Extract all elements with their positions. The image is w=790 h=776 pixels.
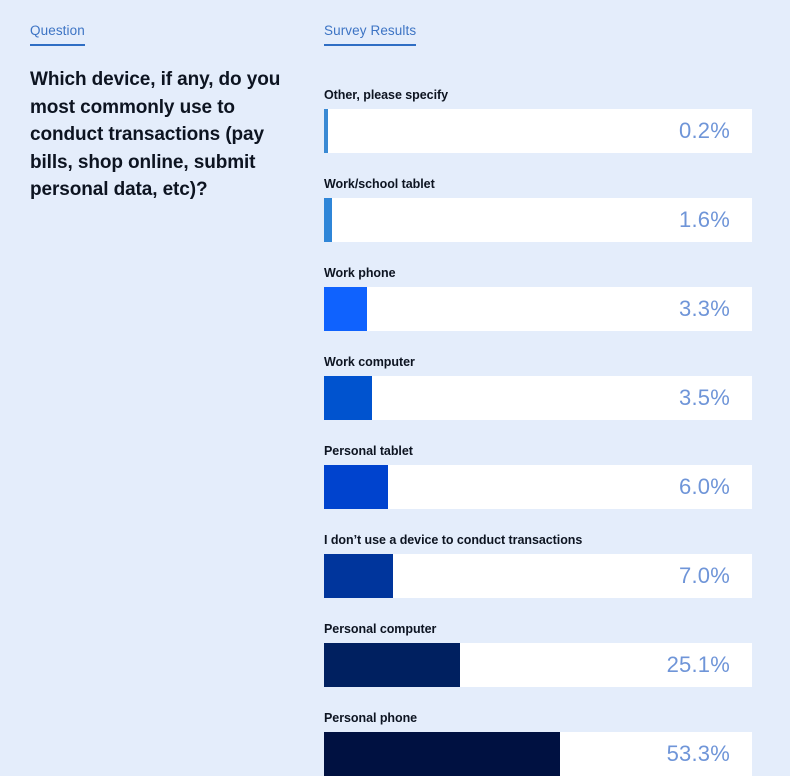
bar-fill <box>324 732 560 776</box>
bar-item: Work computer3.5% <box>324 355 752 420</box>
bar-value: 1.6% <box>679 208 730 232</box>
bar-item: Work/school tablet1.6% <box>324 177 752 242</box>
bar-label: Personal tablet <box>324 444 752 459</box>
bar-item: I don’t use a device to conduct transact… <box>324 533 752 598</box>
bar-track: 3.3% <box>324 287 752 331</box>
bar-item: Personal tablet6.0% <box>324 444 752 509</box>
bar-item: Personal computer25.1% <box>324 622 752 687</box>
bar-track: 25.1% <box>324 643 752 687</box>
survey-result-page: Question Which device, if any, do you mo… <box>0 0 790 682</box>
bar-chart: Other, please specify0.2%Work/school tab… <box>324 88 752 776</box>
bar-track: 6.0% <box>324 465 752 509</box>
bar-fill <box>324 554 393 598</box>
bar-value: 6.0% <box>679 475 730 499</box>
bar-label: Personal computer <box>324 622 752 637</box>
bar-value: 7.0% <box>679 564 730 588</box>
bar-label: Work computer <box>324 355 752 370</box>
bar-label: Personal phone <box>324 711 752 726</box>
bar-fill <box>324 376 372 420</box>
question-section-kicker: Question <box>30 23 85 46</box>
bar-value: 53.3% <box>667 742 730 766</box>
question-panel: Question Which device, if any, do you mo… <box>30 22 302 204</box>
bar-fill <box>324 643 460 687</box>
bar-track: 1.6% <box>324 198 752 242</box>
bar-fill <box>324 465 388 509</box>
bar-fill <box>324 109 328 153</box>
question-text: Which device, if any, do you most common… <box>30 66 302 204</box>
bar-value: 3.3% <box>679 297 730 321</box>
results-section-kicker: Survey Results <box>324 23 416 46</box>
bar-item: Other, please specify0.2% <box>324 88 752 153</box>
bar-value: 3.5% <box>679 386 730 410</box>
bar-label: I don’t use a device to conduct transact… <box>324 533 752 548</box>
bar-label: Work phone <box>324 266 752 281</box>
bar-item: Work phone3.3% <box>324 266 752 331</box>
bar-label: Work/school tablet <box>324 177 752 192</box>
bar-item: Personal phone53.3% <box>324 711 752 776</box>
bar-label: Other, please specify <box>324 88 752 103</box>
bar-fill <box>324 287 367 331</box>
bar-track: 3.5% <box>324 376 752 420</box>
results-panel: Survey Results Other, please specify0.2%… <box>324 22 752 776</box>
bar-track: 53.3% <box>324 732 752 776</box>
results-header: Survey Results <box>324 22 752 66</box>
bar-value: 0.2% <box>679 119 730 143</box>
bar-track: 7.0% <box>324 554 752 598</box>
bar-value: 25.1% <box>667 653 730 677</box>
bar-track: 0.2% <box>324 109 752 153</box>
bar-fill <box>324 198 332 242</box>
